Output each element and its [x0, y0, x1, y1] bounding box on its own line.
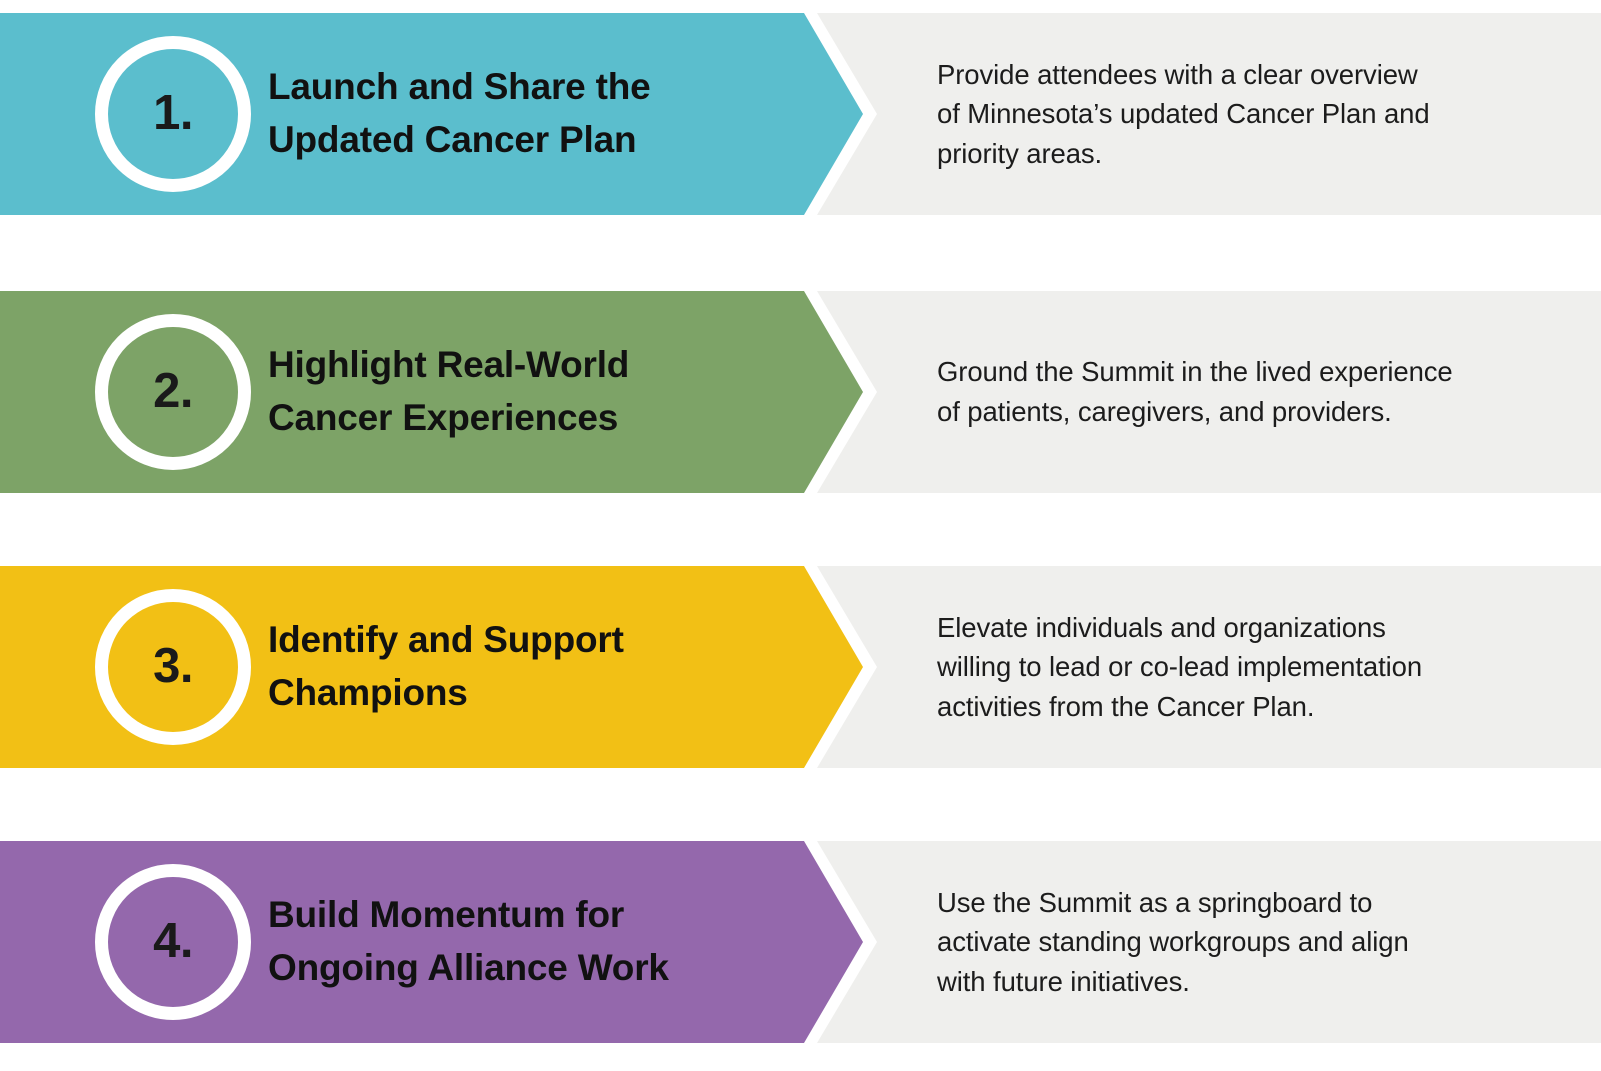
- goal-title-line: Cancer Experiences: [268, 392, 778, 445]
- step-number-badge-4: 4.: [95, 864, 251, 1020]
- step-number-badge-3: 3.: [95, 589, 251, 745]
- goal-row-4: 4. Build Momentum for Ongoing Alliance W…: [0, 841, 1601, 1043]
- goal-title-3: Identify and Support Champions: [268, 566, 778, 768]
- goal-description-1: Provide attendees with a clear overview …: [937, 13, 1547, 215]
- step-number-label: 4.: [153, 917, 193, 966]
- goal-title-line: Champions: [268, 667, 778, 720]
- chevron-infographic: 1. Launch and Share the Updated Cancer P…: [0, 0, 1601, 1071]
- goal-row-2: 2. Highlight Real-World Cancer Experienc…: [0, 291, 1601, 493]
- goal-title-4: Build Momentum for Ongoing Alliance Work: [268, 841, 778, 1043]
- goal-description-line: with future initiatives.: [937, 962, 1547, 1002]
- goal-row-3: 3. Identify and Support Champions Elevat…: [0, 566, 1601, 768]
- goal-title-line: Launch and Share the: [268, 61, 778, 114]
- goal-description-2: Ground the Summit in the lived experienc…: [937, 291, 1547, 493]
- goal-description-line: priority areas.: [937, 134, 1547, 174]
- goal-description-line: activate standing workgroups and align: [937, 922, 1547, 962]
- goal-title-line: Updated Cancer Plan: [268, 114, 778, 167]
- goal-row-1: 1. Launch and Share the Updated Cancer P…: [0, 13, 1601, 215]
- goal-title-line: Highlight Real-World: [268, 339, 778, 392]
- step-number-label: 1.: [153, 89, 193, 138]
- goal-title-line: Identify and Support: [268, 614, 778, 667]
- goal-description-line: activities from the Cancer Plan.: [937, 687, 1547, 727]
- step-number-label: 2.: [153, 367, 193, 416]
- goal-description-4: Use the Summit as a springboard to activ…: [937, 841, 1547, 1043]
- step-number-badge-1: 1.: [95, 36, 251, 192]
- goal-title-1: Launch and Share the Updated Cancer Plan: [268, 13, 778, 215]
- goal-description-line: willing to lead or co-lead implementatio…: [937, 647, 1547, 687]
- goal-title-2: Highlight Real-World Cancer Experiences: [268, 291, 778, 493]
- goal-description-line: Elevate individuals and organizations: [937, 608, 1547, 648]
- goal-description-line: of patients, caregivers, and providers.: [937, 392, 1547, 432]
- goal-description-3: Elevate individuals and organizations wi…: [937, 566, 1547, 768]
- step-number-badge-2: 2.: [95, 314, 251, 470]
- goal-title-line: Ongoing Alliance Work: [268, 942, 778, 995]
- goal-description-line: of Minnesota’s updated Cancer Plan and: [937, 94, 1547, 134]
- goal-description-line: Ground the Summit in the lived experienc…: [937, 352, 1547, 392]
- goal-description-line: Provide attendees with a clear overview: [937, 55, 1547, 95]
- step-number-label: 3.: [153, 642, 193, 691]
- goal-title-line: Build Momentum for: [268, 889, 778, 942]
- goal-description-line: Use the Summit as a springboard to: [937, 883, 1547, 923]
